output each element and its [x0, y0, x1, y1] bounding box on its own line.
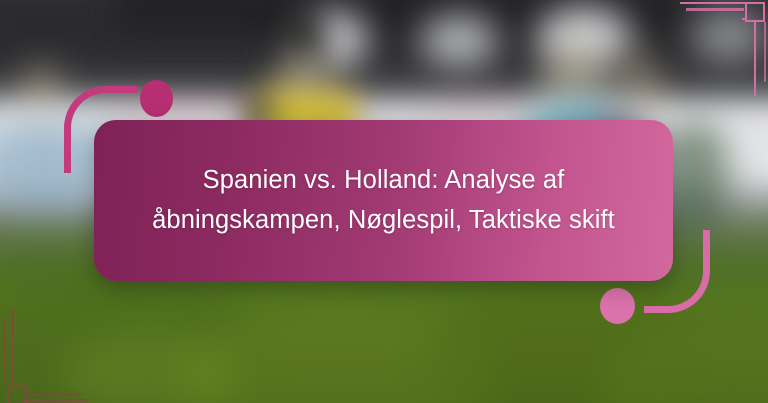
frame-line-horizontal — [686, 8, 744, 11]
frame-line-connector — [742, 18, 746, 20]
frame-line-horizontal — [680, 2, 746, 4]
frame-line-horizontal — [22, 399, 88, 401]
hero-banner: Spanien vs. Holland: Analyse af åbningsk… — [0, 0, 768, 403]
page-title: Spanien vs. Holland: Analyse af åbningsk… — [152, 161, 615, 240]
frame-line-vertical — [764, 22, 766, 82]
frame-line-vertical — [754, 20, 756, 96]
decorative-dot-top-left — [140, 80, 173, 117]
decorative-dot-bottom-right — [600, 288, 635, 324]
frame-corner-box — [7, 385, 27, 403]
page-title-line-2: åbningskampen, Nøglespil, Taktiske skift — [152, 206, 615, 234]
frame-corner-box — [745, 2, 765, 22]
frame-line-horizontal — [24, 393, 82, 395]
frame-line-vertical — [3, 320, 5, 382]
title-card: Spanien vs. Holland: Analyse af åbningsk… — [94, 120, 673, 281]
page-title-line-1: Spanien vs. Holland: Analyse af — [203, 166, 565, 194]
crowd-highlight — [420, 14, 498, 68]
frame-line-vertical — [12, 308, 14, 384]
